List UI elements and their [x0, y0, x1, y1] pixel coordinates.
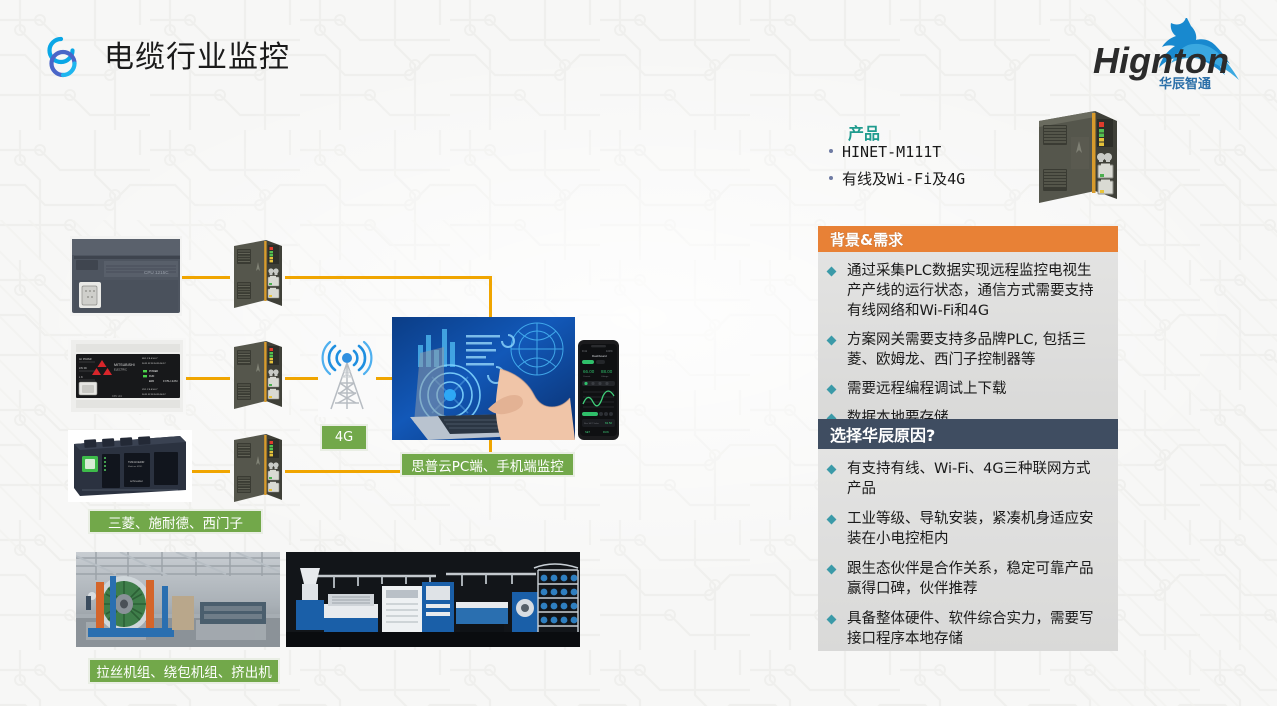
- panel-background-requirements: 背景&需求 通过采集PLC数据实现远程监控电视生产产线的运行状态，通信方式需要支…: [818, 226, 1118, 419]
- bullet-item: 具备整体硬件、软件综合实力，需要写接口程序本地存储: [828, 609, 1102, 649]
- bullet-item: 有支持有线、Wi-Fi、4G三种联网方式产品: [828, 459, 1102, 499]
- product-item-label: HINET-M111T: [842, 143, 941, 161]
- svg-text:RUN: RUN: [149, 375, 154, 378]
- tag-label: 4G: [335, 430, 353, 445]
- panel-body: 通过采集PLC数据实现远程监控电视生产产线的运行状态，通信方式需要支持有线网络和…: [818, 252, 1118, 419]
- svg-text:Modicon M241: Modicon M241: [128, 466, 143, 468]
- svg-text:Run SET Value: Run SET Value: [584, 423, 600, 425]
- diamond-bullet-icon: [827, 515, 837, 525]
- device-plc-mitsubishi: MITSUBISHI ELECTRIC AC POWER24V DCL N X0…: [68, 338, 186, 414]
- diamond-bullet-icon: [827, 465, 837, 475]
- diamond-bullet-icon: [827, 565, 837, 575]
- svg-text:MITSUBISHI: MITSUBISHI: [114, 363, 135, 367]
- svg-text:100%: 100%: [606, 349, 613, 353]
- svg-text:Dashboard: Dashboard: [592, 354, 607, 358]
- bullet-dot-icon: [829, 149, 833, 153]
- wire-plc1-to-gateway1: [182, 276, 230, 279]
- bullet-label: 通过采集PLC数据实现远程监控电视生产产线的运行状态，通信方式需要支持有线网络和…: [847, 261, 1102, 321]
- bullet-label: 具备整体硬件、软件综合实力，需要写接口程序本地存储: [847, 609, 1102, 649]
- svg-text:63.50: 63.50: [605, 421, 612, 425]
- page-header: 电缆行业监控 Hignton 华辰智通: [0, 0, 1277, 108]
- svg-text:24V DC: 24V DC: [79, 368, 87, 370]
- wire-plc2-to-gateway2: [185, 377, 230, 380]
- svg-text:schneider: schneider: [130, 479, 143, 483]
- bullet-label: 方案网关需要支持多品牌PLC, 包括三菱、欧姆龙、西门子控制器等: [847, 330, 1102, 370]
- svg-text:Voltage: Voltage: [601, 375, 609, 378]
- diamond-bullet-icon: [827, 615, 837, 625]
- panel-body: 有支持有线、Wi-Fi、4G三种联网方式产品 工业等级、导轨安装，紧凑机身适应安…: [818, 449, 1118, 651]
- svg-text:FX5U-32M: FX5U-32M: [163, 379, 178, 383]
- product-heading: 产品: [848, 120, 880, 144]
- diamond-bullet-icon: [827, 267, 837, 277]
- svg-text:9:41: 9:41: [582, 349, 588, 353]
- linked-circles-logo-icon: [35, 30, 89, 84]
- tag-machine-types: 拉丝机组、绕包机组、挤出机: [88, 658, 280, 684]
- svg-text:POWER: POWER: [149, 370, 158, 373]
- panel-why-hignton: 选择华辰原因? 有支持有线、Wi-Fi、4G三种联网方式产品 工业等级、导轨安装…: [818, 419, 1118, 651]
- panel-title: 背景&需求: [818, 226, 1118, 252]
- wire-gateway1-vertical: [489, 276, 492, 318]
- tag-4g: 4G: [320, 424, 368, 451]
- svg-text:66.00: 66.00: [583, 369, 595, 374]
- factory-photo-cable-drum: [76, 552, 280, 647]
- svg-text:ELECTRIC: ELECTRIC: [114, 368, 127, 372]
- tag-label: 思普云PC端、手机端监控: [411, 455, 564, 475]
- svg-text:CPU 1215C: CPU 1215C: [144, 270, 169, 275]
- device-gateway-2: [228, 337, 290, 417]
- brand-name: Hignton: [1093, 40, 1229, 81]
- bullet-item: 工业等级、导轨安装，紧凑机身适应安装在小电控柜内: [828, 509, 1102, 549]
- tag-cloud-monitoring: 思普云PC端、手机端监控: [400, 452, 575, 477]
- bullet-label: 工业等级、导轨安装，紧凑机身适应安装在小电控柜内: [847, 509, 1102, 549]
- svg-text:TM241CE40R: TM241CE40R: [128, 460, 145, 464]
- tag-plc-brands: 三菱、施耐德、西门子: [88, 509, 263, 534]
- svg-text:88.00: 88.00: [601, 369, 613, 374]
- brand-sub: 华辰智通: [1159, 76, 1211, 92]
- product-item-label: 有线及Wi-Fi及4G: [842, 170, 965, 188]
- diamond-bullet-icon: [827, 336, 837, 346]
- device-gateway-1: [228, 236, 290, 316]
- svg-text:10 11 12 13 14 15 16 17: 10 11 12 13 14 15 16 17: [142, 394, 166, 396]
- svg-text:CPU Unit: CPU Unit: [112, 395, 122, 398]
- bullet-label: 需要远程编程调试上下载: [847, 379, 1007, 399]
- device-plc-siemens: CPU 1215C: [70, 236, 182, 316]
- diamond-bullet-icon: [827, 385, 837, 395]
- svg-text:X0 1 2 3 4 5 6 7: X0 1 2 3 4 5 6 7: [142, 358, 158, 360]
- wire-gateway1-horizontal: [285, 276, 492, 279]
- device-gateway-3: [228, 430, 290, 510]
- page-title: 电缆行业监控: [104, 36, 290, 80]
- product-list-item: HINET-M111T: [829, 143, 941, 161]
- bullet-item: 需要远程编程调试上下载: [828, 379, 1102, 399]
- bullet-item: 跟生态伙伴是合作关系，稳定可靠产品赢得口碑，伙伴推荐: [828, 559, 1102, 599]
- svg-text:SET: SET: [585, 430, 590, 434]
- svg-text:AC POWER: AC POWER: [79, 358, 92, 361]
- svg-text:ERR: ERR: [149, 380, 154, 383]
- svg-text:Y0 1 2 3 4 5 6 7: Y0 1 2 3 4 5 6 7: [142, 389, 158, 391]
- svg-text:Current: Current: [583, 375, 591, 378]
- cloud-monitoring-laptop-image: [392, 317, 575, 440]
- svg-text:10 11 12 13 14 15 16 17: 10 11 12 13 14 15 16 17: [142, 363, 166, 365]
- svg-text:L N: L N: [79, 377, 83, 379]
- product-list-item: 有线及Wi-Fi及4G: [829, 168, 965, 189]
- factory-photo-extrusion-line: [286, 552, 580, 647]
- wire-gateway2-to-tower: [285, 377, 320, 380]
- bullet-item: 通过采集PLC数据实现远程监控电视生产产线的运行状态，通信方式需要支持有线网络和…: [828, 261, 1102, 321]
- device-plc-schneider: TM241CE40R Modicon M241 schneider: [68, 430, 192, 502]
- bullet-label: 跟生态伙伴是合作关系，稳定可靠产品赢得口碑，伙伴推荐: [847, 559, 1102, 599]
- svg-text:RUN: RUN: [603, 430, 609, 434]
- bullet-dot-icon: [829, 176, 833, 180]
- tag-label: 三菱、施耐德、西门子: [108, 512, 243, 532]
- device-4g-signal-tower: [318, 337, 376, 417]
- panel-title: 选择华辰原因?: [818, 419, 1118, 449]
- bullet-item: 方案网关需要支持多品牌PLC, 包括三菱、欧姆龙、西门子控制器等: [828, 330, 1102, 370]
- bullet-label: 有支持有线、Wi-Fi、4G三种联网方式产品: [847, 459, 1102, 499]
- brand-logo: Hignton 华辰智通: [1087, 18, 1257, 92]
- tag-label: 拉丝机组、绕包机组、挤出机: [96, 661, 272, 681]
- product-block: 产品 HINET-M111T 有线及Wi-Fi及4G: [826, 110, 1126, 210]
- wire-tower-to-cloud: [374, 377, 394, 380]
- product-photo-hinet-gateway: [1021, 107, 1129, 213]
- wire-plc3-to-gateway3: [190, 470, 230, 473]
- cloud-monitoring-phone-image: 9:41100% Dashboard 66.0088.00 CurrentVol…: [578, 340, 619, 440]
